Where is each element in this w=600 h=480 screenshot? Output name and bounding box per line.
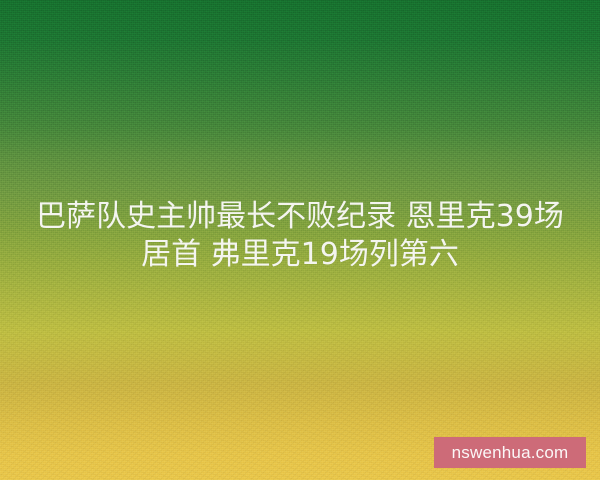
image-canvas: 巴萨队史主帅最长不败纪录 恩里克39场居首 弗里克19场列第六 nswenhua… [0, 0, 600, 480]
watermark-label: nswenhua.com [452, 444, 569, 461]
watermark-badge: nswenhua.com [434, 437, 586, 468]
headline-text: 巴萨队史主帅最长不败纪录 恩里克39场居首 弗里克19场列第六 [35, 198, 565, 274]
